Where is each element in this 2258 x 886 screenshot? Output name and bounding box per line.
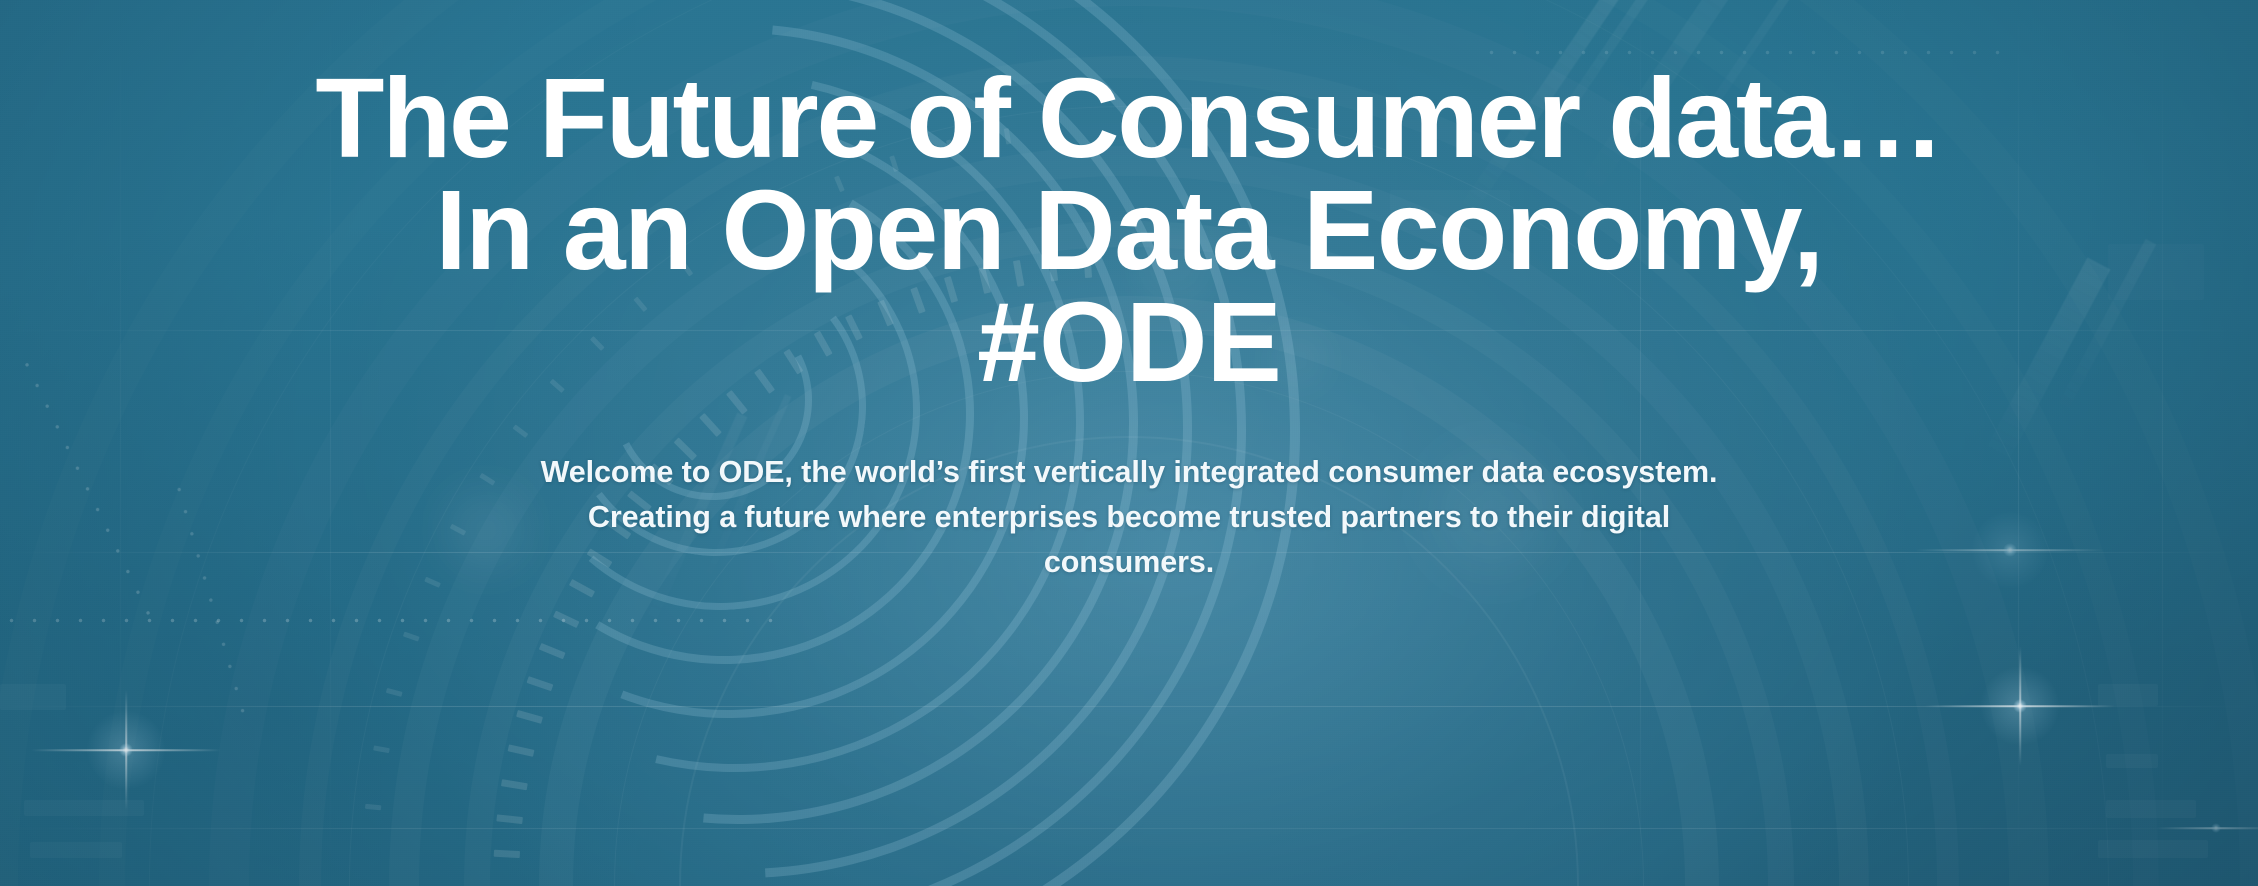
- page-title: The Future of Consumer data… In an Open …: [0, 0, 2258, 398]
- headline-line-1: The Future of Consumer data…: [0, 62, 2258, 174]
- hero-banner: The Future of Consumer data… In an Open …: [0, 0, 2258, 886]
- headline-line-2: In an Open Data Economy,: [0, 174, 2258, 286]
- subtitle-line-2: Creating a future where enterprises beco…: [514, 495, 1744, 540]
- hero-content: The Future of Consumer data… In an Open …: [0, 0, 2258, 886]
- subtitle-line-3: consumers.: [514, 540, 1744, 585]
- subtitle-line-1: Welcome to ODE, the world’s first vertic…: [514, 450, 1744, 495]
- hero-subtitle: Welcome to ODE, the world’s first vertic…: [514, 450, 1744, 585]
- headline-line-3: #ODE: [0, 286, 2258, 398]
